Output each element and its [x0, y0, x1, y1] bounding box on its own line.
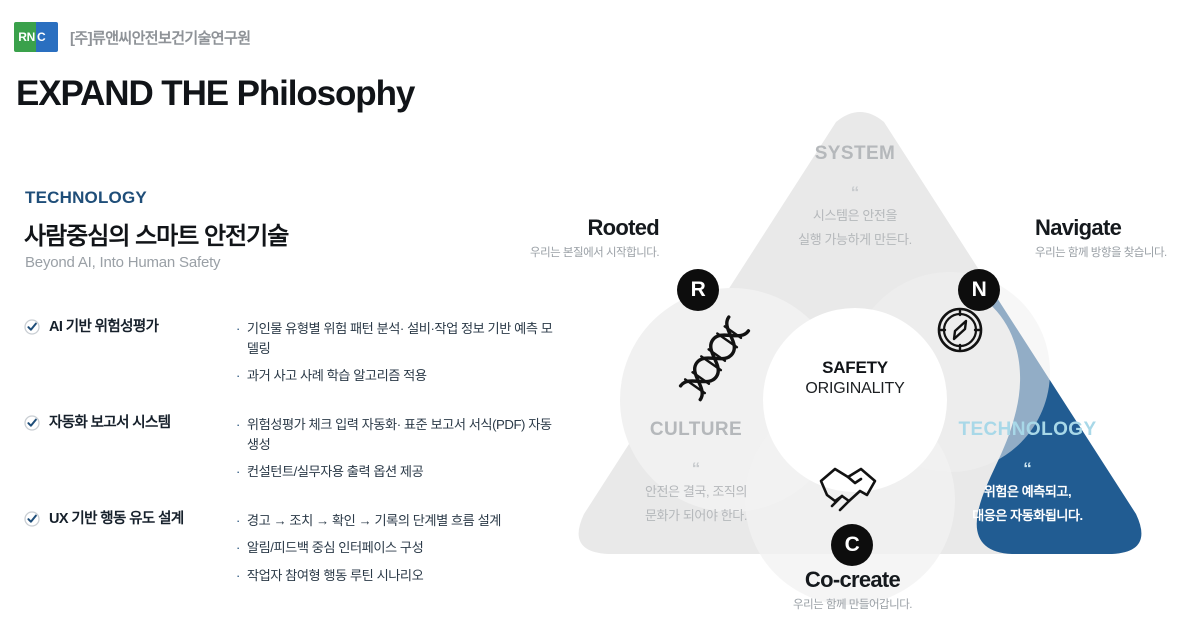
pillar-text-line2: 대응은 자동화됩니다. [935, 507, 1120, 525]
logo-right-block: C [36, 22, 58, 52]
badge-rooted: R [677, 269, 719, 311]
feature-bullets: · 위험성평가 체크 입력 자동화· 표준 보고서 서식(PDF) 자동 생성 … [236, 414, 554, 482]
pillar-technology: TECHNOLOGY “ 위험은 예측되고, 대응은 자동화됩니다. [935, 420, 1120, 526]
pillar-text-line1: 시스템은 안전을 [770, 207, 940, 225]
feature-heading: AI 기반 위험성평가 [24, 318, 236, 340]
page-title: EXPAND THE Philosophy [16, 74, 414, 114]
bullet-text: 기인물 유형별 위험 패턴 분석· 설비·작업 정보 기반 예측 모델링 [247, 319, 554, 359]
core-circle [763, 308, 947, 492]
bullet-item: · 알림/피드백 중심 인터페이스 구성 [236, 538, 554, 558]
core-label-primary: SAFETY [785, 358, 925, 378]
vertex-name: Co-create [785, 568, 920, 592]
pillar-culture: CULTURE “ 안전은 결국, 조직의 문화가 되어야 한다. [610, 420, 782, 526]
feature-bullets: · 기인물 유형별 위험 패턴 분석· 설비·작업 정보 기반 예측 모델링 ·… [236, 318, 554, 386]
brand-row: RN C [주]류앤씨안전보건기술연구원 [14, 22, 250, 52]
pillar-title: CULTURE [610, 420, 782, 439]
vertex-name: Navigate [1035, 216, 1167, 240]
bullet-marker: · [236, 538, 240, 558]
bullet-marker: · [236, 366, 240, 386]
pillar-text-line1: 위험은 예측되고, [935, 483, 1120, 501]
pillar-text-line1: 안전은 결국, 조직의 [610, 483, 782, 501]
bullet-marker: · [236, 511, 240, 531]
feature-list: AI 기반 위험성평가 · 기인물 유형별 위험 패턴 분석· 설비·작업 정보… [24, 318, 554, 586]
feature-title: AI 기반 위험성평가 [49, 318, 158, 336]
bullet-text: 알림/피드백 중심 인터페이스 구성 [247, 538, 423, 558]
bullet-text: 경고 → 조치 → 확인 → 기록의 단계별 흐름 설계 [247, 511, 501, 531]
pillar-title: SYSTEM [770, 144, 940, 163]
check-circle-icon [24, 319, 40, 340]
list-item: 자동화 보고서 시스템 · 위험성평가 체크 입력 자동화· 표준 보고서 서식… [24, 414, 554, 482]
vertex-desc: 우리는 함께 방향을 찾습니다. [1035, 244, 1167, 260]
pillar-text-line2: 실행 가능하게 만든다. [770, 231, 940, 249]
vertex-desc: 우리는 함께 만들어갑니다. [785, 596, 920, 612]
list-item: UX 기반 행동 유도 설계 · 경고 → 조치 → 확인 → 기록의 단계별 … [24, 510, 554, 585]
bullet-marker: · [236, 462, 240, 482]
slide-root: RN C [주]류앤씨안전보건기술연구원 EXPAND THE Philosop… [0, 0, 1180, 629]
bullet-item: · 기인물 유형별 위험 패턴 분석· 설비·작업 정보 기반 예측 모델링 [236, 319, 554, 359]
bullet-text: 과거 사고 사례 학습 알고리즘 적용 [247, 366, 427, 386]
vertex-desc: 우리는 본질에서 시작합니다. [530, 244, 659, 260]
feature-title: UX 기반 행동 유도 설계 [49, 510, 184, 528]
list-item: AI 기반 위험성평가 · 기인물 유형별 위험 패턴 분석· 설비·작업 정보… [24, 318, 554, 386]
bullet-marker: · [236, 566, 240, 586]
quote-mark-icon: “ [770, 184, 940, 201]
logo-left-block: RN [14, 22, 36, 52]
bullet-text: 위험성평가 체크 입력 자동화· 표준 보고서 서식(PDF) 자동 생성 [247, 415, 554, 455]
bullet-item: · 컨설턴트/실무자용 출력 옵션 제공 [236, 462, 554, 482]
core-label: SAFETY ORIGINALITY [785, 358, 925, 398]
company-name: [주]류앤씨안전보건기술연구원 [70, 27, 250, 48]
bullet-item: · 위험성평가 체크 입력 자동화· 표준 보고서 서식(PDF) 자동 생성 [236, 415, 554, 455]
bullet-marker: · [236, 319, 240, 339]
quote-mark-icon: “ [935, 460, 1120, 477]
feature-bullets: · 경고 → 조치 → 확인 → 기록의 단계별 흐름 설계 · 알림/피드백 … [236, 510, 554, 585]
pillar-text-line2: 문화가 되어야 한다. [610, 507, 782, 525]
bullet-marker: · [236, 415, 240, 435]
bullet-text: 작업자 참여형 행동 루틴 시나리오 [247, 566, 423, 586]
feature-heading: 자동화 보고서 시스템 [24, 414, 236, 436]
pillar-title: TECHNOLOGY [935, 420, 1120, 439]
rnc-logo: RN C [14, 22, 58, 52]
feature-heading: UX 기반 행동 유도 설계 [24, 510, 236, 532]
bullet-item: · 경고 → 조치 → 확인 → 기록의 단계별 흐름 설계 [236, 511, 554, 531]
label-rooted: Rooted 우리는 본질에서 시작합니다. [530, 216, 659, 260]
section-headline: 사람중심의 스마트 안전기술 [24, 216, 288, 251]
core-label-secondary: ORIGINALITY [785, 380, 925, 398]
quote-mark-icon: “ [610, 460, 782, 477]
bullet-text: 컨설턴트/실무자용 출력 옵션 제공 [247, 462, 423, 482]
section-subhead: Beyond AI, Into Human Safety [25, 254, 220, 271]
badge-cocreate: C [831, 524, 873, 566]
pillar-system: SYSTEM “ 시스템은 안전을 실행 가능하게 만든다. [770, 144, 940, 250]
vertex-name: Rooted [530, 216, 659, 240]
badge-navigate: N [958, 269, 1000, 311]
label-cocreate: Co-create 우리는 함께 만들어갑니다. [785, 568, 920, 612]
bullet-item: · 과거 사고 사례 학습 알고리즘 적용 [236, 366, 554, 386]
bullet-item: · 작업자 참여형 행동 루틴 시나리오 [236, 566, 554, 586]
section-kicker: TECHNOLOGY [25, 188, 147, 208]
label-navigate: Navigate 우리는 함께 방향을 찾습니다. [1035, 216, 1167, 260]
check-circle-icon [24, 511, 40, 532]
feature-title: 자동화 보고서 시스템 [49, 414, 171, 432]
check-circle-icon [24, 415, 40, 436]
